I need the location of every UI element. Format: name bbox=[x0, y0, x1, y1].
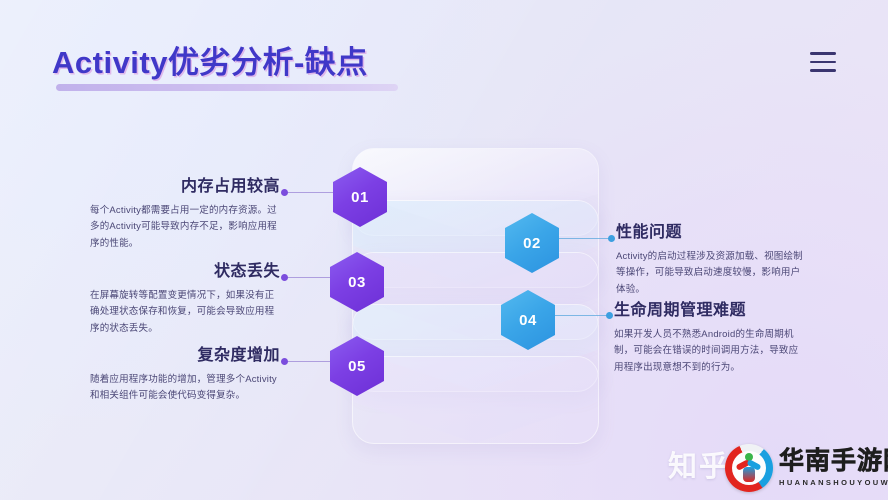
connector-dot-04 bbox=[606, 312, 613, 319]
badge-04-label: 04 bbox=[519, 312, 537, 329]
slide-canvas: Activity优劣分析-缺点 01 02 03 04 05 内存占用较高 每个… bbox=[0, 0, 888, 500]
title-underline bbox=[56, 84, 398, 91]
page-title: Activity优劣分析-缺点 bbox=[52, 46, 368, 80]
connector-line-04 bbox=[552, 315, 610, 316]
connector-dot-05 bbox=[281, 358, 288, 365]
brand-text: 华南手游网 HUANANSHOUYOUWANG bbox=[779, 449, 888, 487]
menu-line-3 bbox=[810, 69, 836, 72]
menu-line-2 bbox=[810, 61, 836, 64]
figure-body bbox=[743, 467, 755, 482]
item-02-title: 性能问题 bbox=[616, 218, 806, 242]
item-block-02: 性能问题 Activity的启动过程涉及资源加载、视图绘制等操作，可能导致启动速… bbox=[616, 218, 806, 298]
chevron-layer-5 bbox=[352, 356, 599, 444]
item-block-01: 内存占用较高 每个Activity都需要占用一定的内存资源。过多的Activit… bbox=[90, 172, 280, 252]
chevron-stack bbox=[352, 148, 612, 416]
brand-name-cn: 华南手游网 bbox=[779, 449, 888, 474]
item-05-body: 随着应用程序功能的增加，管理多个Activity和相关组件可能会使代码变得复杂。 bbox=[90, 372, 280, 405]
brand-name-en: HUANANSHOUYOUWANG bbox=[779, 478, 888, 487]
hamburger-menu-icon[interactable] bbox=[810, 52, 836, 72]
badge-01-label: 01 bbox=[351, 189, 369, 206]
title-en: Activity bbox=[52, 45, 168, 80]
title-cn: 优劣分析-缺点 bbox=[168, 45, 368, 80]
item-01-title: 内存占用较高 bbox=[90, 172, 280, 196]
badge-03-label: 03 bbox=[348, 274, 366, 291]
connector-line-05 bbox=[284, 361, 334, 362]
emblem-figure-icon bbox=[738, 453, 760, 483]
item-02-body: Activity的启动过程涉及资源加载、视图绘制等操作，可能导致启动速度较慢，影… bbox=[616, 249, 806, 298]
connector-line-01 bbox=[284, 192, 336, 193]
brand-emblem-icon bbox=[722, 441, 776, 495]
connector-line-03 bbox=[284, 277, 334, 278]
item-05-title: 复杂度增加 bbox=[90, 341, 280, 365]
connector-line-02 bbox=[556, 238, 612, 239]
item-block-04: 生命周期管理难题 如果开发人员不熟悉Android的生命周期机制，可能会在错误的… bbox=[614, 296, 804, 376]
item-01-body: 每个Activity都需要占用一定的内存资源。过多的Activity可能导致内存… bbox=[90, 203, 280, 252]
badge-05-label: 05 bbox=[348, 358, 366, 375]
badge-02-label: 02 bbox=[523, 235, 541, 252]
item-03-title: 状态丢失 bbox=[90, 257, 280, 281]
item-block-05: 复杂度增加 随着应用程序功能的增加，管理多个Activity和相关组件可能会使代… bbox=[90, 341, 280, 405]
title-text: Activity优劣分析-缺点 bbox=[52, 46, 368, 80]
item-04-body: 如果开发人员不熟悉Android的生命周期机制，可能会在错误的时间调用方法，导致… bbox=[614, 327, 804, 376]
brand-logo: 华南手游网 HUANANSHOUYOUWANG bbox=[722, 441, 888, 495]
item-03-body: 在屏幕旋转等配置变更情况下，如果没有正确处理状态保存和恢复，可能会导致应用程序的… bbox=[90, 288, 280, 337]
item-04-title: 生命周期管理难题 bbox=[614, 296, 804, 320]
connector-dot-03 bbox=[281, 274, 288, 281]
connector-dot-01 bbox=[281, 189, 288, 196]
zhihu-watermark: 知乎 bbox=[668, 443, 730, 485]
connector-dot-02 bbox=[608, 235, 615, 242]
item-block-03: 状态丢失 在屏幕旋转等配置变更情况下，如果没有正确处理状态保存和恢复，可能会导致… bbox=[90, 257, 280, 337]
menu-line-1 bbox=[810, 52, 836, 55]
